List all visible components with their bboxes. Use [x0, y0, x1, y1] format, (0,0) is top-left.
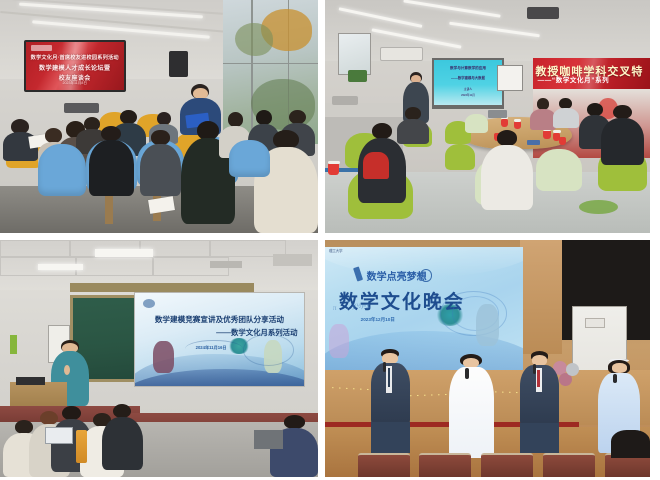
- photo-bottom-left[interactable]: 数学建模竞赛宣讲及优秀团队分享活动 ——数学文化月系列活动 2024年11月16…: [0, 240, 318, 477]
- trousers: [371, 422, 410, 453]
- photo-collage: 数学文化月·首席校友进校园系列活动 数学建模人才成长论坛暨 校友座谈会 2023…: [0, 0, 660, 480]
- event-banner-screen: 数学文化月·首席校友进校园系列活动 数学建模人才成长论坛暨 校友座谈会 2023…: [24, 40, 126, 92]
- hand: [64, 365, 70, 376]
- projector: [64, 103, 99, 113]
- laptop: [45, 427, 74, 444]
- trousers: [520, 423, 559, 454]
- paper-cup: [501, 119, 508, 127]
- banner-line-2: 数学建模人才成长论坛暨: [26, 63, 124, 72]
- scene-auditorium-stage: 理工大学 数学点亮梦想 数学文化晚会 2023年12月10日 ∫(½)=Σ π: [325, 240, 650, 477]
- air-conditioner: [380, 47, 422, 61]
- slide-title: 数学建模竞赛宣讲及优秀团队分享活动: [141, 314, 297, 325]
- door-sign: [585, 318, 605, 327]
- scene-classroom: 数学建模竞赛宣讲及优秀团队分享活动 ——数学文化月系列活动 2024年11月16…: [0, 240, 318, 477]
- banner-line-1: 数学文化月·首席校友进校园系列活动: [26, 54, 124, 61]
- necktie: [537, 370, 540, 387]
- university-logo-icon: [143, 299, 155, 308]
- scene-meeting-room: 数学与计算数学的应用 ——数学建模与大数据 主讲人 2023年11月 教授咖啡学…: [325, 0, 650, 233]
- chair: [38, 144, 86, 195]
- medal-icon: [420, 269, 432, 281]
- microphone: [613, 374, 616, 383]
- paper-cup: [514, 121, 521, 129]
- water-bottle: [76, 430, 87, 463]
- ceiling-light: [95, 249, 152, 256]
- screen-rail: [70, 283, 254, 292]
- university-logo-icon: [31, 45, 53, 51]
- projection-screen: 理工大学 数学点亮梦想 数学文化晚会 2023年12月10日 ∫(½)=Σ π: [325, 247, 523, 370]
- projector: [527, 7, 560, 19]
- theater-seat: [481, 453, 533, 477]
- audience-head: [611, 430, 650, 458]
- theater-seat: [358, 453, 410, 477]
- illustration-figure: [153, 341, 173, 373]
- projection-slide: 数学建模竞赛宣讲及优秀团队分享活动 ——数学文化月系列活动 2024年11月16…: [134, 292, 306, 387]
- wall-sign: [10, 335, 18, 354]
- performer-male-host-1: [371, 349, 410, 453]
- ceiling-vent: [273, 254, 311, 266]
- slide-line-1: 数学与计算数学的应用: [434, 66, 502, 71]
- balloon: [566, 363, 579, 376]
- performer-male-host-2: [520, 351, 559, 453]
- banner-line-2: ——“数学文化月”系列: [538, 74, 650, 84]
- window: [338, 33, 371, 75]
- slide-line-2: ——数学建模与大数据: [434, 75, 502, 80]
- chair: [536, 149, 582, 191]
- whiteboard: [497, 65, 523, 91]
- red-hood: [363, 152, 388, 179]
- paper-cup: [328, 163, 339, 175]
- banner-date: 2023年11月8日: [26, 81, 124, 86]
- microphone: [383, 362, 386, 372]
- paper-cup: [559, 137, 566, 144]
- logo-watermark: 理工大学: [329, 248, 343, 253]
- photo-bottom-right[interactable]: 理工大学 数学点亮梦想 数学文化晚会 2023年12月10日 ∫(½)=Σ π: [325, 240, 650, 477]
- wood-column: [520, 240, 562, 354]
- slide-headline: 数学点亮梦想: [367, 268, 427, 283]
- necktie: [388, 368, 391, 387]
- slide-line-3: 主讲人: [434, 87, 502, 91]
- photo-top-left[interactable]: 数学文化月·首席校友进校园系列活动 数学建模人才成长论坛暨 校友座谈会 2023…: [0, 0, 318, 233]
- paper-cup: [543, 130, 551, 138]
- potted-plant: [348, 70, 368, 82]
- chair: [445, 144, 474, 170]
- illustration-figure: [476, 304, 500, 346]
- chair-back: [254, 430, 283, 449]
- laptop: [488, 110, 508, 118]
- wall-speaker-icon: [169, 51, 188, 77]
- chair: [229, 140, 270, 177]
- theater-seat: [543, 453, 595, 477]
- microphone: [465, 368, 469, 378]
- slide-line-4: 2023年11月: [434, 93, 502, 97]
- monitor: [16, 377, 45, 384]
- projection-screen: 数学与计算数学的应用 ——数学建模与大数据 主讲人 2023年11月: [432, 58, 504, 107]
- ceiling-light: [38, 264, 83, 270]
- performer-female-host-1: [449, 354, 495, 458]
- theater-seat: [419, 453, 471, 477]
- sink: [332, 96, 358, 105]
- scene-seminar-room: 数学文化月·首席校友进校园系列活动 数学建模人才成长论坛暨 校友座谈会 2023…: [0, 0, 318, 233]
- event-banner: 教授咖啡学科交叉特 ——“数学文化月”系列: [533, 58, 650, 88]
- photo-top-right[interactable]: 数学与计算数学的应用 ——数学建模与大数据 主讲人 2023年11月 教授咖啡学…: [325, 0, 650, 233]
- ceiling-vent: [210, 261, 242, 268]
- illustration-figure: [329, 324, 349, 359]
- microphone: [533, 364, 536, 374]
